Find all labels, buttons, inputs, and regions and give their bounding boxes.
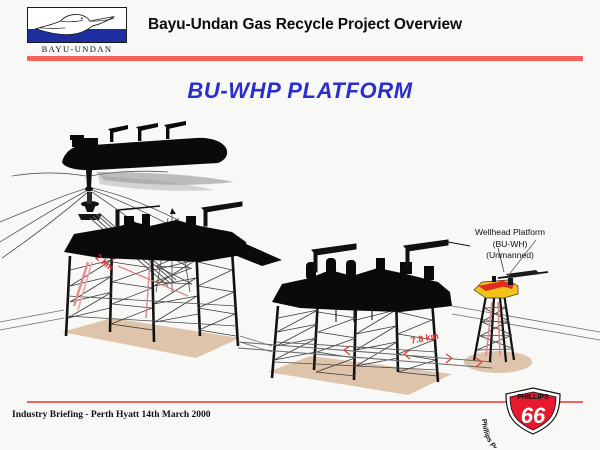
footer-note: Industry Briefing - Perth Hyatt 14th Mar… bbox=[12, 410, 211, 420]
wellhead-label-line3: (Unmanned) bbox=[450, 250, 570, 262]
phillips-wordmark: PHILLIPS bbox=[517, 394, 549, 401]
logo-caption: BAYU-UNDAN bbox=[24, 44, 130, 54]
pelican-bird-icon bbox=[28, 8, 126, 42]
slide-canvas: BAYU-UNDAN Bayu-Undan Gas Recycle Projec… bbox=[0, 0, 600, 450]
slide-subtitle: BU-WHP PLATFORM bbox=[0, 78, 600, 104]
bayu-undan-logo bbox=[27, 7, 127, 43]
phillips-66-logo: PHILLIPS 66 Phillips Petroleum (91-12) P… bbox=[474, 386, 592, 448]
wellhead-platform-label: Wellhead Platform (BU-WH) (Unmanned) bbox=[450, 227, 570, 262]
header-divider bbox=[27, 56, 583, 61]
wellhead-label-line2: (BU-WH) bbox=[450, 239, 570, 251]
page-title: Bayu-Undan Gas Recycle Project Overview bbox=[148, 16, 462, 34]
wellhead-label-line1: Wellhead Platform bbox=[450, 227, 570, 239]
phillips-66-numerals: 66 bbox=[521, 403, 546, 428]
seabed-footprints bbox=[62, 318, 532, 395]
